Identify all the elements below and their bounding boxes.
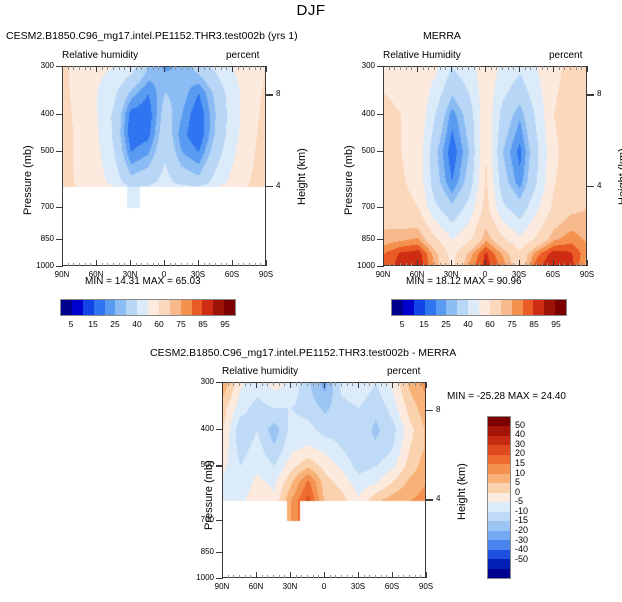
x-tick-label: 0 (310, 582, 338, 591)
x-minor-tick (221, 66, 222, 70)
y-major-tick (216, 578, 223, 579)
x-minor-tick (409, 382, 410, 386)
x-minor-tick (496, 66, 497, 70)
x-major-tick (553, 66, 554, 72)
x-tick-label: 90N (208, 582, 236, 591)
x-minor-tick (369, 382, 370, 386)
y-major-tick (56, 114, 63, 115)
x-major-tick (130, 66, 131, 72)
model-contour-plot[interactable] (62, 66, 266, 266)
x-minor-tick (341, 575, 342, 579)
x-minor-tick (124, 263, 125, 267)
y2-tick-label: 4 (436, 494, 440, 503)
diff-units-label: percent (387, 366, 420, 377)
y-major-tick (56, 66, 63, 67)
x-minor-tick (119, 66, 120, 70)
colorbar-cell (392, 300, 403, 315)
colorbar-tick-label: 95 (216, 319, 234, 329)
x-minor-tick (525, 66, 526, 70)
x-minor-tick (136, 66, 137, 70)
y-tick-label: 850 (26, 234, 54, 243)
x-minor-tick (158, 66, 159, 70)
x-minor-tick (228, 575, 229, 579)
x-minor-tick (457, 66, 458, 70)
x-major-tick (485, 66, 486, 72)
x-minor-tick (440, 263, 441, 267)
x-minor-tick (457, 263, 458, 267)
diff-minmax-text: MIN = -25.28 MAX = 24.40 (447, 391, 566, 402)
x-minor-tick (107, 263, 108, 267)
colorbar-tick-label: 85 (194, 319, 212, 329)
colorbar-tick-label: 5 (515, 477, 520, 487)
x-minor-tick (434, 66, 435, 70)
x-major-tick (324, 382, 325, 388)
x-tick-label: 60S (539, 270, 567, 279)
x-minor-tick (434, 263, 435, 267)
x-minor-tick (335, 382, 336, 386)
y-major-tick (56, 266, 63, 267)
x-minor-tick (581, 66, 582, 70)
x-minor-tick (175, 66, 176, 70)
x-minor-tick (239, 575, 240, 579)
x-major-tick (451, 260, 452, 266)
x-minor-tick (479, 66, 480, 70)
x-minor-tick (445, 263, 446, 267)
x-minor-tick (250, 575, 251, 579)
colorbar-cell (468, 300, 479, 315)
x-minor-tick (233, 575, 234, 579)
x-major-tick (358, 572, 359, 578)
x-minor-tick (192, 263, 193, 267)
y-tick-label: 300 (347, 61, 375, 70)
x-minor-tick (547, 66, 548, 70)
colorbar-cell (488, 521, 510, 530)
x-minor-tick (267, 382, 268, 386)
x-minor-tick (170, 263, 171, 267)
x-minor-tick (381, 575, 382, 579)
x-minor-tick (102, 66, 103, 70)
y2-tick-label: 8 (436, 405, 440, 414)
x-major-tick (358, 382, 359, 388)
colorbar-tick-label: 60 (150, 319, 168, 329)
x-minor-tick (530, 66, 531, 70)
x-major-tick (164, 66, 165, 72)
model-variable-label: Relative humidity (62, 50, 138, 61)
y-tick-label: 1000 (186, 573, 214, 582)
x-minor-tick (307, 575, 308, 579)
obs-y-axis-label: Pressure (mb) (343, 145, 355, 215)
x-minor-tick (170, 66, 171, 70)
x-minor-tick (233, 382, 234, 386)
x-minor-tick (226, 66, 227, 70)
colorbar-cell (501, 300, 512, 315)
x-major-tick (392, 572, 393, 578)
x-tick-label: 60S (218, 270, 246, 279)
x-minor-tick (462, 66, 463, 70)
x-minor-tick (158, 263, 159, 267)
obs-contour-plot[interactable] (383, 66, 587, 266)
x-minor-tick (301, 382, 302, 386)
colorbar-cell (479, 300, 490, 315)
colorbar-cell (192, 300, 203, 315)
colorbar-cell (488, 559, 510, 568)
x-minor-tick (381, 382, 382, 386)
y-tick-label: 300 (26, 61, 54, 70)
x-minor-tick (307, 382, 308, 386)
x-minor-tick (255, 66, 256, 70)
colorbar-cell (224, 300, 235, 315)
x-minor-tick (273, 382, 274, 386)
colorbar-cell (488, 531, 510, 540)
colorbar-cell (523, 300, 534, 315)
x-minor-tick (491, 66, 492, 70)
x-minor-tick (491, 263, 492, 267)
y-major-tick (56, 207, 63, 208)
colorbar-tick-label: -20 (515, 525, 528, 535)
x-minor-tick (209, 263, 210, 267)
x-minor-tick (479, 263, 480, 267)
x-major-tick (426, 382, 427, 388)
colorbar-tick-label: 25 (106, 319, 124, 329)
colorbar-cell (403, 300, 414, 315)
colorbar-tick-label: 60 (481, 319, 499, 329)
x-minor-tick (273, 575, 274, 579)
y-major-tick (377, 66, 384, 67)
x-major-tick (164, 260, 165, 266)
y-tick-label: 400 (26, 109, 54, 118)
model-y-axis-label: Pressure (mb) (22, 145, 34, 215)
x-minor-tick (313, 575, 314, 579)
x-minor-tick (249, 66, 250, 70)
colorbar-cell (202, 300, 213, 315)
colorbar-cell (490, 300, 501, 315)
y-tick-label: 400 (186, 424, 214, 433)
y2-major-tick (587, 186, 594, 187)
x-minor-tick (513, 66, 514, 70)
x-minor-tick (576, 66, 577, 70)
y-major-tick (377, 114, 384, 115)
diff-variable-label: Relative humidity (222, 366, 298, 377)
colorbar-tick-label: 40 (515, 429, 525, 439)
y-major-tick (216, 382, 223, 383)
model-colorbar[interactable] (60, 299, 236, 316)
x-minor-tick (364, 382, 365, 386)
x-minor-tick (107, 66, 108, 70)
colorbar-tick-label: 0 (515, 487, 520, 497)
x-minor-tick (113, 263, 114, 267)
x-minor-tick (564, 66, 565, 70)
colorbar-cell (213, 300, 224, 315)
colorbar-cell (115, 300, 126, 315)
x-minor-tick (204, 263, 205, 267)
colorbar-cell (533, 300, 544, 315)
x-minor-tick (245, 575, 246, 579)
x-tick-label: 90S (573, 270, 601, 279)
x-minor-tick (559, 66, 560, 70)
x-major-tick (198, 66, 199, 72)
obs-units-label: percent (549, 50, 582, 61)
x-minor-tick (474, 66, 475, 70)
y-tick-label: 1000 (26, 261, 54, 270)
y2-major-tick (266, 94, 273, 95)
colorbar-cell (488, 502, 510, 511)
x-minor-tick (468, 66, 469, 70)
x-minor-tick (576, 263, 577, 267)
x-major-tick (96, 260, 97, 266)
x-minor-tick (245, 382, 246, 386)
x-minor-tick (474, 263, 475, 267)
x-minor-tick (330, 575, 331, 579)
x-minor-tick (141, 263, 142, 267)
x-minor-tick (296, 575, 297, 579)
x-minor-tick (409, 575, 410, 579)
x-minor-tick (228, 382, 229, 386)
x-tick-label: 60N (242, 582, 270, 591)
x-tick-label: 30N (276, 582, 304, 591)
model-y2-axis-label: Height (km) (296, 148, 308, 205)
x-minor-tick (187, 66, 188, 70)
x-minor-tick (260, 263, 261, 267)
x-minor-tick (375, 382, 376, 386)
x-minor-tick (415, 575, 416, 579)
y2-tick-label: 8 (597, 89, 601, 98)
x-minor-tick (423, 263, 424, 267)
x-minor-tick (238, 66, 239, 70)
x-minor-tick (440, 66, 441, 70)
x-minor-tick (181, 66, 182, 70)
colorbar-cell (83, 300, 94, 315)
x-major-tick (519, 260, 520, 266)
y-major-tick (377, 266, 384, 267)
obs-minmax-text: MIN = 18.12 MAX = 90.96 (406, 276, 522, 287)
y-major-tick (377, 239, 384, 240)
colorbar-cell (446, 300, 457, 315)
x-minor-tick (226, 263, 227, 267)
colorbar-tick-label: 5 (393, 319, 411, 329)
x-major-tick (266, 260, 267, 266)
colorbar-cell (512, 300, 523, 315)
colorbar-cell (488, 550, 510, 559)
colorbar-cell (457, 300, 468, 315)
y-tick-label: 400 (347, 109, 375, 118)
colorbar-tick-label: 95 (547, 319, 565, 329)
y2-tick-label: 8 (276, 89, 280, 98)
x-major-tick (198, 260, 199, 266)
model-panel-title: CESM2.B1850.C96_mg17.intel.PE1152.THR3.t… (6, 30, 298, 42)
colorbar-cell (488, 455, 510, 464)
x-minor-tick (400, 263, 401, 267)
x-major-tick (417, 66, 418, 72)
x-minor-tick (547, 263, 548, 267)
model-minmax-text: MIN = 14.31 MAX = 65.03 (85, 276, 201, 287)
x-minor-tick (341, 382, 342, 386)
colorbar-cell (488, 569, 510, 578)
y2-major-tick (266, 186, 273, 187)
model-units-label: percent (226, 50, 259, 61)
y-major-tick (216, 520, 223, 521)
colorbar-tick-label: 15 (415, 319, 433, 329)
y-tick-label: 1000 (347, 261, 375, 270)
x-minor-tick (68, 66, 69, 70)
x-minor-tick (85, 263, 86, 267)
x-minor-tick (260, 66, 261, 70)
x-minor-tick (386, 575, 387, 579)
colorbar-cell (414, 300, 425, 315)
x-major-tick (266, 66, 267, 72)
x-minor-tick (428, 263, 429, 267)
colorbar-cell (94, 300, 105, 315)
x-minor-tick (536, 66, 537, 70)
colorbar-cell (488, 436, 510, 445)
obs-colorbar[interactable] (391, 299, 567, 316)
x-minor-tick (570, 263, 571, 267)
y-major-tick (216, 465, 223, 466)
x-major-tick (417, 260, 418, 266)
y-tick-label: 850 (186, 547, 214, 556)
colorbar-cell (555, 300, 566, 315)
x-minor-tick (411, 263, 412, 267)
y-tick-label: 850 (347, 234, 375, 243)
colorbar-tick-label: 10 (515, 468, 525, 478)
x-minor-tick (124, 66, 125, 70)
x-minor-tick (530, 263, 531, 267)
x-minor-tick (394, 263, 395, 267)
x-minor-tick (420, 575, 421, 579)
x-minor-tick (192, 66, 193, 70)
x-minor-tick (335, 575, 336, 579)
x-major-tick (587, 260, 588, 266)
colorbar-tick-label: 5 (62, 319, 80, 329)
colorbar-tick-label: 85 (525, 319, 543, 329)
x-tick-label: 90N (48, 270, 76, 279)
x-major-tick (290, 572, 291, 578)
figure-title: DJF (0, 2, 622, 19)
x-tick-label: 60S (378, 582, 406, 591)
x-minor-tick (403, 382, 404, 386)
x-major-tick (256, 382, 257, 388)
colorbar-cell (61, 300, 72, 315)
x-minor-tick (415, 382, 416, 386)
x-minor-tick (262, 575, 263, 579)
x-minor-tick (147, 66, 148, 70)
x-major-tick (324, 572, 325, 578)
x-minor-tick (564, 263, 565, 267)
diff-contour-canvas (223, 383, 426, 578)
colorbar-cell (181, 300, 192, 315)
x-minor-tick (102, 263, 103, 267)
colorbar-tick-label: 15 (515, 458, 525, 468)
x-major-tick (451, 66, 452, 72)
x-minor-tick (250, 382, 251, 386)
colorbar-cell (126, 300, 137, 315)
x-minor-tick (113, 66, 114, 70)
obs-y2-axis-label: Height (km) (617, 148, 622, 205)
colorbar-cell (488, 464, 510, 473)
x-tick-label: 90N (369, 270, 397, 279)
colorbar-tick-label: 75 (503, 319, 521, 329)
x-minor-tick (249, 263, 250, 267)
x-minor-tick (389, 263, 390, 267)
diff-colorbar[interactable] (487, 416, 511, 579)
x-minor-tick (175, 263, 176, 267)
x-minor-tick (369, 575, 370, 579)
diff-contour-plot[interactable] (222, 382, 426, 578)
colorbar-cell (105, 300, 116, 315)
colorbar-cell (170, 300, 181, 315)
x-minor-tick (496, 263, 497, 267)
x-minor-tick (400, 66, 401, 70)
x-minor-tick (508, 263, 509, 267)
x-minor-tick (542, 263, 543, 267)
x-minor-tick (330, 382, 331, 386)
x-major-tick (392, 382, 393, 388)
x-minor-tick (79, 66, 80, 70)
x-minor-tick (239, 382, 240, 386)
obs-contour-canvas (384, 67, 587, 266)
x-major-tick (130, 260, 131, 266)
colorbar-tick-label: -40 (515, 544, 528, 554)
x-minor-tick (445, 66, 446, 70)
y2-major-tick (426, 499, 433, 500)
x-major-tick (232, 260, 233, 266)
x-minor-tick (284, 575, 285, 579)
colorbar-cell (159, 300, 170, 315)
x-major-tick (232, 66, 233, 72)
diff-y-axis-label: Pressure (mb) (203, 460, 215, 530)
x-minor-tick (296, 382, 297, 386)
x-minor-tick (420, 382, 421, 386)
colorbar-tick-label: -10 (515, 506, 528, 516)
x-minor-tick (90, 263, 91, 267)
x-minor-tick (153, 263, 154, 267)
y-major-tick (377, 151, 384, 152)
x-minor-tick (141, 66, 142, 70)
colorbar-tick-label: 15 (84, 319, 102, 329)
x-major-tick (485, 260, 486, 266)
x-minor-tick (406, 66, 407, 70)
x-tick-label: 90S (252, 270, 280, 279)
x-minor-tick (181, 263, 182, 267)
colorbar-tick-label: -50 (515, 554, 528, 564)
x-minor-tick (204, 66, 205, 70)
x-major-tick (587, 66, 588, 72)
x-minor-tick (581, 263, 582, 267)
y-tick-label: 300 (186, 377, 214, 386)
x-minor-tick (262, 382, 263, 386)
x-minor-tick (147, 263, 148, 267)
x-minor-tick (352, 382, 353, 386)
x-minor-tick (90, 66, 91, 70)
x-minor-tick (85, 66, 86, 70)
colorbar-tick-label: 25 (437, 319, 455, 329)
x-major-tick (519, 66, 520, 72)
x-minor-tick (238, 263, 239, 267)
y-major-tick (377, 207, 384, 208)
x-minor-tick (221, 263, 222, 267)
x-minor-tick (406, 263, 407, 267)
x-minor-tick (215, 66, 216, 70)
y-major-tick (56, 151, 63, 152)
x-major-tick (290, 382, 291, 388)
x-minor-tick (423, 66, 424, 70)
x-major-tick (96, 66, 97, 72)
x-minor-tick (318, 575, 319, 579)
colorbar-cell (488, 512, 510, 521)
diff-panel-title: CESM2.B1850.C96_mg17.intel.PE1152.THR3.t… (150, 347, 456, 359)
x-minor-tick (570, 66, 571, 70)
x-minor-tick (68, 263, 69, 267)
x-minor-tick (267, 575, 268, 579)
